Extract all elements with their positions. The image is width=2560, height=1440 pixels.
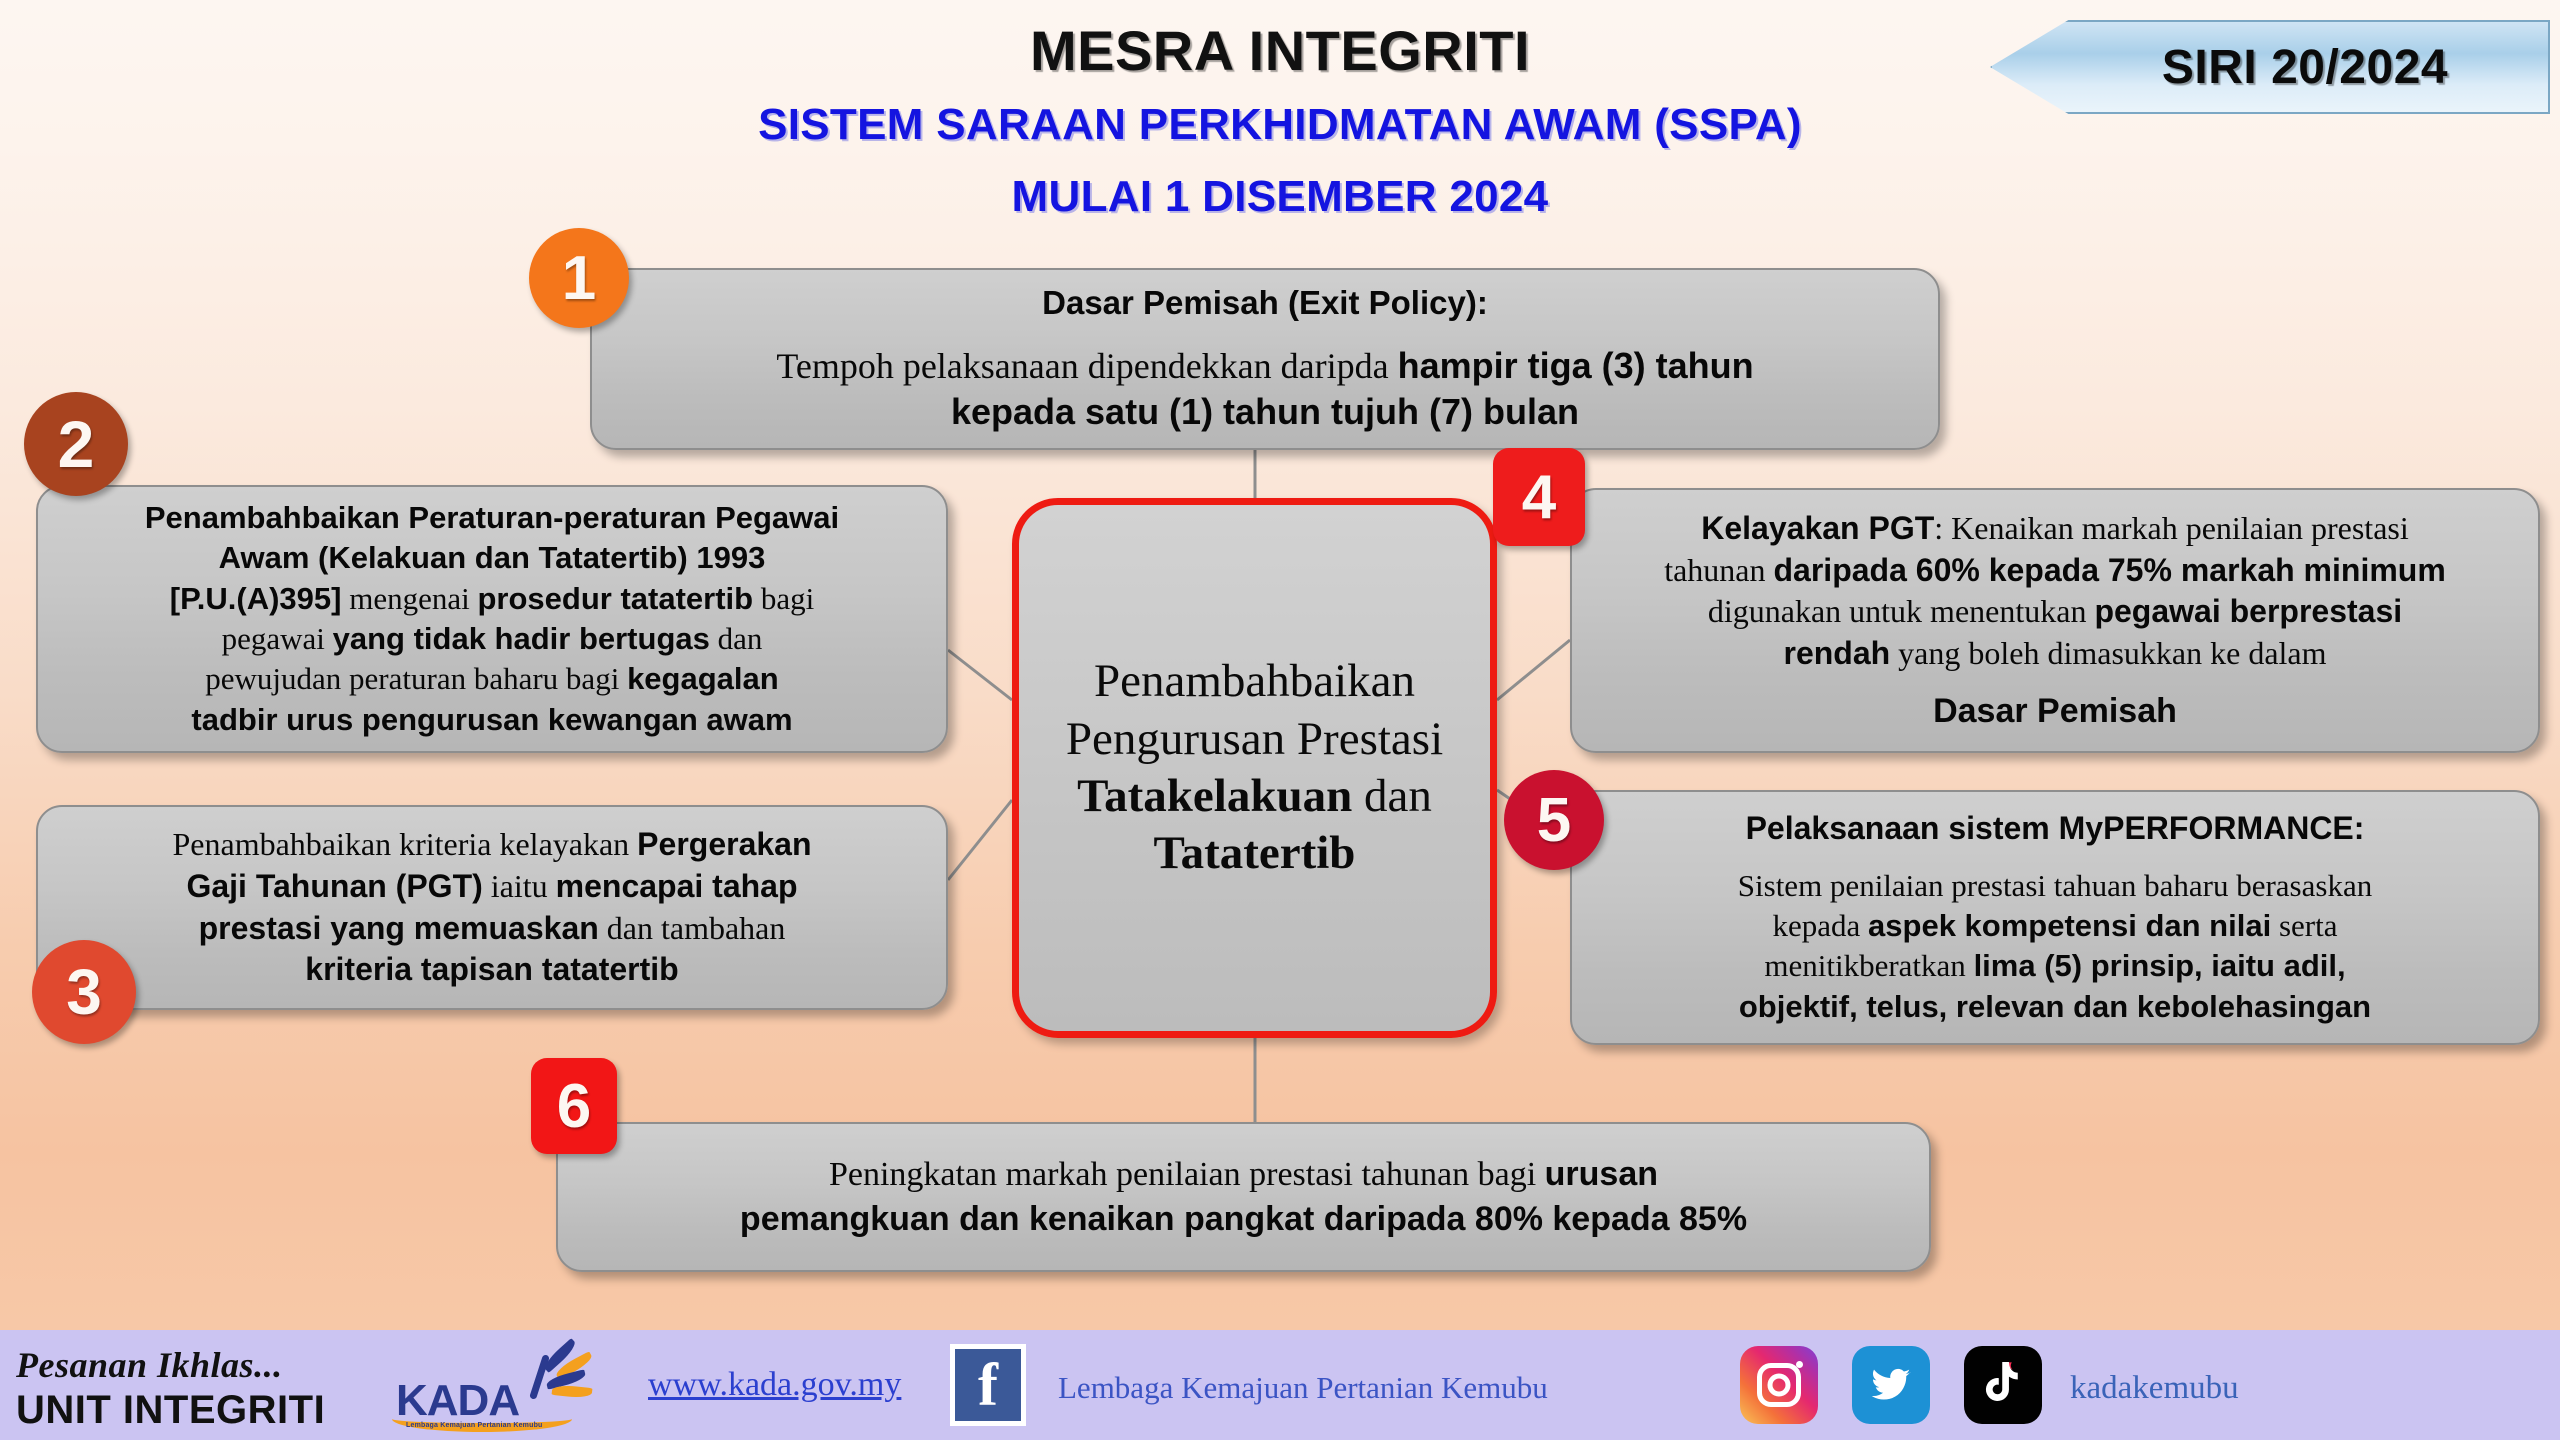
node-5-text: Pelaksanaan sistem MyPERFORMANCE: Sistem…	[1738, 808, 2372, 1027]
node-2-line-4-bold: yang tidak hadir bertugas	[333, 621, 710, 656]
node-6-line-1-bold: urusan	[1545, 1155, 1658, 1193]
node-3-line-1-bold: Pergerakan	[637, 826, 811, 862]
node-6-line-2: pemangkuan dan kenaikan pangkat daripada…	[740, 1197, 1747, 1242]
node-2-line-6: tadbir urus pengurusan kewangan awam	[145, 700, 839, 740]
tiktok-icon[interactable]	[1964, 1346, 2042, 1424]
node-2-line-4: pegawai yang tidak hadir bertugas dan	[145, 619, 839, 659]
node-4-text: Kelayakan PGT: Kenaikan markah penilaian…	[1664, 508, 2446, 733]
node-5-line-3-bold: lima (5) prinsip, iaitu adil,	[1974, 948, 2346, 983]
center-line-3: Prestasi	[1297, 713, 1443, 765]
instagram-icon-dot	[1796, 1361, 1803, 1368]
center-line-1: Penambahbaikan	[1094, 655, 1415, 707]
node-5-line-2-plain-b: serta	[2271, 908, 2337, 943]
center-line-5-plain: dan	[1364, 770, 1432, 822]
node-badge-5: 5	[1504, 770, 1604, 870]
node-4-line-5-bold: Dasar Pemisah	[1933, 692, 2177, 730]
center-node-text: Penambahbaikan Pengurusan Prestasi Tatak…	[1019, 653, 1490, 882]
node-4-line-4-plain: yang boleh dimasukkan ke dalam	[1890, 635, 2326, 671]
node-4-line-2-plain: tahunan	[1664, 552, 1773, 588]
node-3-text: Penambahbaikan kriteria kelayakan Perger…	[172, 824, 811, 990]
social-handle: kadakemubu	[2070, 1370, 2239, 1407]
website-link[interactable]: www.kada.gov.my	[648, 1366, 901, 1404]
facebook-icon[interactable]: f	[950, 1344, 1026, 1426]
twitter-icon-bird-glyph	[1866, 1364, 1916, 1406]
node-3-line-2: Gaji Tahunan (PGT) iaitu mencapai tahap	[172, 866, 811, 908]
node-4-line-2: tahunan daripada 60% kepada 75% markah m…	[1664, 550, 2446, 592]
node-2-line-4-plain-a: pegawai	[222, 621, 333, 656]
tiktok-icon-note-glyph	[1980, 1360, 2026, 1410]
node-5-line-4-bold: objektif, telus, relevan dan kebolehasin…	[1739, 989, 2371, 1024]
node-2-line-1-bold: Penambahbaikan Peraturan-peraturan Pegaw…	[145, 500, 839, 535]
node-3-line-1: Penambahbaikan kriteria kelayakan Perger…	[172, 824, 811, 866]
kada-logo: KADA Lembaga Kemajuan Pertanian Kemubu	[388, 1348, 593, 1432]
node-4-line-2-bold: daripada 60% kepada 75% markah minimum	[1774, 552, 2446, 588]
node-3-line-3-plain: dan tambahan	[599, 910, 786, 946]
node-4-line-1-plain: : Kenaikan markah penilaian prestasi	[1934, 510, 2408, 546]
node-5-line-4: objektif, telus, relevan dan kebolehasin…	[1738, 987, 2372, 1027]
node-4-line-5: Dasar Pemisah	[1664, 689, 2446, 733]
node-1-text: Dasar Pemisah (Exit Policy): Tempoh pela…	[776, 282, 1753, 436]
node-2-line-1: Penambahbaikan Peraturan-peraturan Pegaw…	[145, 498, 839, 538]
center-line-4-bold: Tatakelakuan	[1077, 770, 1352, 822]
node-badge-4: 4	[1493, 448, 1585, 546]
node-2-line-5-plain: pewujudan peraturan baharu bagi	[205, 661, 627, 696]
node-3-line-2-bold-b: mencapai tahap	[556, 868, 798, 904]
center-line-2: Pengurusan	[1066, 713, 1285, 765]
instagram-icon-lens	[1768, 1374, 1791, 1397]
node-5-heading: Pelaksanaan sistem MyPERFORMANCE:	[1738, 808, 2372, 850]
node-5-line-3: menitikberatkan lima (5) prinsip, iaitu …	[1738, 946, 2372, 986]
node-box-6: Peningkatan markah penilaian prestasi ta…	[556, 1122, 1931, 1272]
sincere-message-line-1: Pesanan Ikhlas...	[16, 1344, 346, 1386]
node-6-line-1-plain: Peningkatan markah penilaian prestasi ta…	[829, 1156, 1545, 1193]
kada-logo-tagline: Lembaga Kemajuan Pertanian Kemubu	[406, 1422, 543, 1429]
center-node: Penambahbaikan Pengurusan Prestasi Tatak…	[1012, 498, 1497, 1038]
node-2-line-3-plain-a: mengenai	[341, 581, 477, 616]
node-badge-3: 3	[32, 940, 136, 1044]
sincere-message-line-2: UNIT INTEGRITI	[16, 1388, 346, 1433]
node-6-text: Peningkatan markah penilaian prestasi ta…	[740, 1152, 1747, 1242]
node-badge-2: 2	[24, 392, 128, 496]
node-2-line-3-bold-b: prosedur tatatertib	[477, 581, 753, 616]
node-box-1: Dasar Pemisah (Exit Policy): Tempoh pela…	[590, 268, 1940, 450]
node-1-heading: Dasar Pemisah (Exit Policy):	[776, 282, 1753, 325]
facebook-icon-glyph: f	[955, 1360, 1021, 1409]
center-line-5-bold: Tatatertib	[1154, 827, 1356, 879]
connector-center-to-node-2	[948, 650, 1012, 700]
node-2-line-6-bold: tadbir urus pengurusan kewangan awam	[191, 702, 792, 737]
node-3-line-3-bold: prestasi yang memuaskan	[199, 910, 599, 946]
node-box-4: Kelayakan PGT: Kenaikan markah penilaian…	[1570, 488, 2540, 753]
node-2-line-3: [P.U.(A)395] mengenai prosedur tataterti…	[145, 579, 839, 619]
node-1-line-2: kepada satu (1) tahun tujuh (7) bulan	[776, 389, 1753, 436]
node-2-line-2-bold: Awam (Kelakuan dan Tatatertib) 1993	[219, 540, 766, 575]
node-box-5: Pelaksanaan sistem MyPERFORMANCE: Sistem…	[1570, 790, 2540, 1045]
node-5-line-2-bold: aspek kompetensi dan nilai	[1868, 908, 2271, 943]
node-2-line-5: pewujudan peraturan baharu bagi kegagala…	[145, 659, 839, 699]
node-5-line-2: kepada aspek kompetensi dan nilai serta	[1738, 906, 2372, 946]
node-2-line-2: Awam (Kelakuan dan Tatatertib) 1993	[145, 538, 839, 578]
facebook-page-name: Lembaga Kemajuan Pertanian Kemubu	[1058, 1370, 1548, 1406]
node-2-line-3-plain-b: bagi	[753, 581, 814, 616]
twitter-icon[interactable]	[1852, 1346, 1930, 1424]
node-6-line-2-bold: pemangkuan dan kenaikan pangkat daripada…	[740, 1200, 1747, 1238]
node-4-line-1-bold: Kelayakan PGT	[1701, 510, 1934, 546]
node-4-line-4: rendah yang boleh dimasukkan ke dalam	[1664, 633, 2446, 675]
node-2-line-3-bold-a: [P.U.(A)395]	[170, 581, 342, 616]
node-3-line-1-plain: Penambahbaikan kriteria kelayakan	[172, 826, 637, 862]
node-3-line-4-bold: kriteria tapisan tatatertib	[305, 951, 678, 987]
node-2-text: Penambahbaikan Peraturan-peraturan Pegaw…	[145, 498, 839, 740]
node-4-line-4-bold: rendah	[1783, 635, 1890, 671]
node-2-line-5-bold: kegagalan	[627, 661, 779, 696]
connector-center-to-node-4	[1497, 640, 1570, 700]
node-1-line-1-plain: Tempoh pelaksanaan dipendekkan daripda	[776, 346, 1397, 386]
node-3-line-3: prestasi yang memuaskan dan tambahan	[172, 908, 811, 950]
node-4-line-3: digunakan untuk menentukan pegawai berpr…	[1664, 591, 2446, 633]
node-box-2: Penambahbaikan Peraturan-peraturan Pegaw…	[36, 485, 948, 753]
node-5-line-1: Sistem penilaian prestasi tahuan baharu …	[1738, 866, 2372, 906]
node-3-line-2-plain: iaitu	[483, 868, 556, 904]
node-4-line-3-bold: pegawai berprestasi	[2094, 593, 2402, 629]
node-4-line-3-plain: digunakan untuk menentukan	[1708, 593, 2095, 629]
connector-center-to-node-3	[948, 800, 1012, 880]
facebook-icon-square: f	[955, 1349, 1021, 1421]
node-2-line-4-plain-b: dan	[710, 621, 763, 656]
infographic-canvas: MESRA INTEGRITI SISTEM SARAAN PERKHIDMAT…	[0, 0, 2560, 1440]
node-1-line-2-bold: kepada satu (1) tahun tujuh (7) bulan	[951, 391, 1579, 432]
node-badge-1: 1	[529, 228, 629, 328]
sincere-message: Pesanan Ikhlas... UNIT INTEGRITI	[16, 1344, 346, 1433]
node-5-line-1-plain: Sistem penilaian prestasi tahuan baharu …	[1738, 868, 2372, 903]
node-badge-6: 6	[531, 1058, 617, 1154]
center-line-4: Tatakelakuan	[1077, 770, 1352, 822]
node-6-line-1: Peningkatan markah penilaian prestasi ta…	[740, 1152, 1747, 1197]
node-5-line-3-plain: menitikberatkan	[1764, 948, 1973, 983]
node-1-line-1-bold: hampir tiga (3) tahun	[1398, 345, 1754, 386]
node-4-line-1: Kelayakan PGT: Kenaikan markah penilaian…	[1664, 508, 2446, 550]
footer-bar: Pesanan Ikhlas... UNIT INTEGRITI KADA Le…	[0, 1330, 2560, 1440]
node-box-3: Penambahbaikan kriteria kelayakan Perger…	[36, 805, 948, 1010]
instagram-icon[interactable]	[1740, 1346, 1818, 1424]
node-5-line-2-plain: kepada	[1773, 908, 1869, 943]
node-3-line-4: kriteria tapisan tatatertib	[172, 949, 811, 991]
kada-logo-leaf-icon-4	[552, 1384, 593, 1399]
node-1-line-1: Tempoh pelaksanaan dipendekkan daripda h…	[776, 343, 1753, 390]
node-3-line-2-bold-a: Gaji Tahunan (PGT)	[186, 868, 482, 904]
